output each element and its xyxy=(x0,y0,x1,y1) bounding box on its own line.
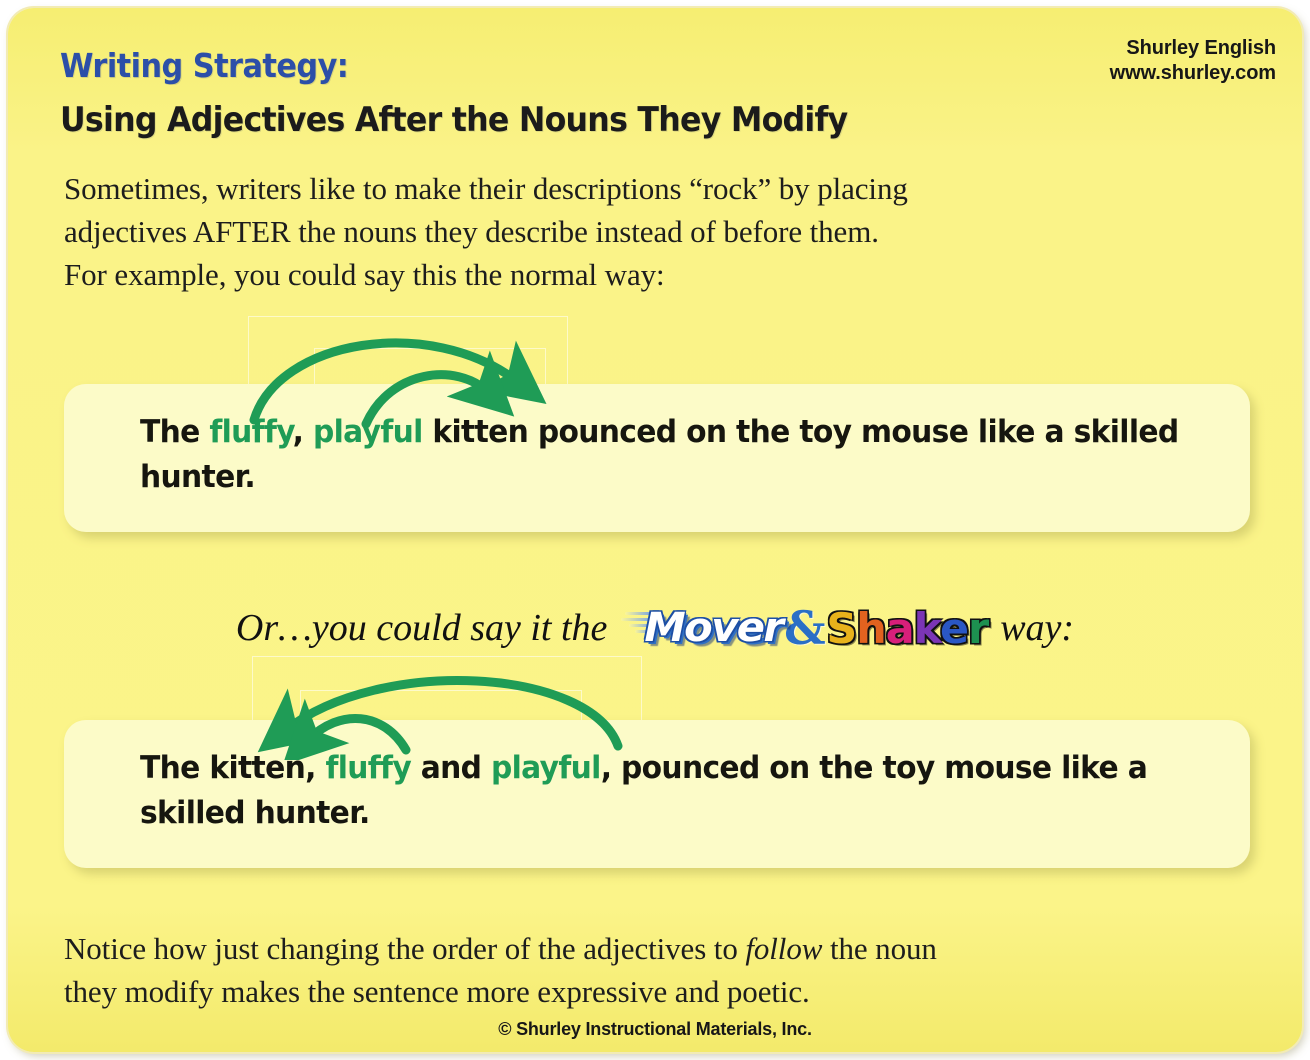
intro-line-1: Sometimes, writers like to make their de… xyxy=(64,171,908,206)
page-subtitle: Using Adjectives After the Nouns They Mo… xyxy=(60,100,847,140)
example-2-part1: The kitten, xyxy=(140,750,325,786)
logo-shaker-letter-2: a xyxy=(885,604,913,653)
brand-website: www.shurley.com xyxy=(1110,61,1276,86)
outro-line-2: they modify makes the sentence more expr… xyxy=(64,974,810,1009)
example-2-mid: and xyxy=(411,750,491,786)
transition-text-after: way: xyxy=(1000,606,1074,650)
logo-shaker-letter-5: r xyxy=(968,604,988,653)
page-title: Writing Strategy: xyxy=(60,46,348,85)
logo-word-shaker: Shaker xyxy=(826,604,988,653)
intro-paragraph: Sometimes, writers like to make their de… xyxy=(64,168,1224,296)
example-2-adjective-2: playful xyxy=(491,750,601,786)
slide-canvas: Shurley English www.shurley.com Writing … xyxy=(8,8,1302,1052)
logo-ampersand: & xyxy=(784,601,826,655)
brand-block: Shurley English www.shurley.com xyxy=(1110,36,1276,86)
example-sentence-box-normal: The fluffy, playful kitten pounced on th… xyxy=(64,384,1250,532)
brand-name: Shurley English xyxy=(1110,36,1276,61)
outro-paragraph: Notice how just changing the order of th… xyxy=(64,928,1234,1014)
outro-line-1a: Notice how just changing the order of th… xyxy=(64,931,745,966)
transition-line: Or…you could say it the Mover & Shaker w… xyxy=(8,596,1302,660)
outro-line-1b: the noun xyxy=(822,931,936,966)
mover-and-shaker-logo: Mover & Shaker xyxy=(621,600,986,656)
copyright-footer: © Shurley Instructional Materials, Inc. xyxy=(8,1019,1302,1040)
example-1-comma: , xyxy=(293,414,313,450)
example-1-part1: The xyxy=(140,414,209,450)
logo-shaker-letter-3: k xyxy=(913,604,939,653)
example-2-adjective-1: fluffy xyxy=(325,750,411,786)
outro-emphasis-follow: follow xyxy=(745,931,822,966)
transition-text-before: Or…you could say it the xyxy=(236,606,608,650)
example-1-text: The fluffy, playful kitten pounced on th… xyxy=(140,410,1183,500)
logo-shaker-letter-0: S xyxy=(826,604,856,653)
logo-shaker-letter-4: e xyxy=(940,604,968,653)
example-1-adjective-2: playful xyxy=(313,414,423,450)
intro-line-3: For example, you could say this the norm… xyxy=(64,257,665,292)
intro-line-2: adjectives AFTER the nouns they describe… xyxy=(64,214,879,249)
example-sentence-box-mover-shaker: The kitten, fluffy and playful, pounced … xyxy=(64,720,1250,868)
example-1-adjective-1: fluffy xyxy=(209,414,292,450)
example-2-text: The kitten, fluffy and playful, pounced … xyxy=(140,746,1183,836)
logo-shaker-letter-1: h xyxy=(856,604,885,653)
logo-word-mover: Mover xyxy=(645,605,783,651)
